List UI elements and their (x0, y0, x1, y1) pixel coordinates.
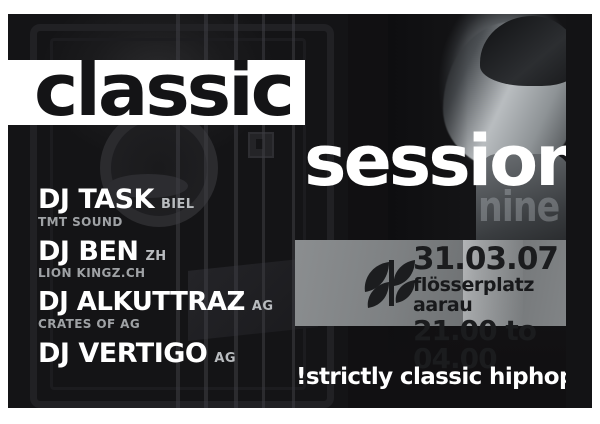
dj-city: BIEL (161, 197, 195, 212)
dj-crew: CRATES OF AG (38, 317, 338, 331)
dj-city: ZH (145, 249, 166, 264)
lineup-item: DJ BENZH LION KINGZ.CH (38, 238, 338, 281)
title-classic: classic (34, 54, 292, 126)
tagline: !strictly classic hiphop! (296, 364, 585, 390)
dj-name: DJ BEN (38, 236, 138, 267)
title-session: session (304, 126, 583, 196)
dj-name: DJ TASK (38, 184, 154, 215)
lineup-item: DJ TASKBIEL TMT SOUND (38, 186, 338, 229)
dj-name: DJ ALKUTTRAZ (38, 287, 245, 317)
event-info-panel: 31.03.07 flösserplatz aarau 21.00 to 04.… (295, 240, 592, 326)
dj-city: AG (214, 351, 236, 366)
lineup-item: DJ ALKUTTRAZAG CRATES OF AG (38, 289, 338, 331)
dj-name: DJ VERTIGO (38, 338, 207, 369)
presale-strip: Vorverkauf: floesserplatz.ch / dezibelle… (566, 14, 592, 408)
presale-info: Vorverkauf: floesserplatz.ch / dezibelle… (574, 402, 590, 408)
deck-button-graphic (248, 132, 274, 158)
event-poster: nine classic session DJ TASKBIEL TMT SOU… (8, 14, 592, 408)
dj-city: AG (252, 299, 274, 314)
leaf-logo-icon (359, 258, 417, 310)
dj-lineup: DJ TASKBIEL TMT SOUND DJ BENZH LION KING… (38, 186, 338, 376)
dj-crew: LION KINGZ.CH (38, 266, 338, 280)
lineup-item: DJ VERTIGOAG (38, 340, 338, 368)
dj-crew: TMT SOUND (38, 215, 338, 229)
